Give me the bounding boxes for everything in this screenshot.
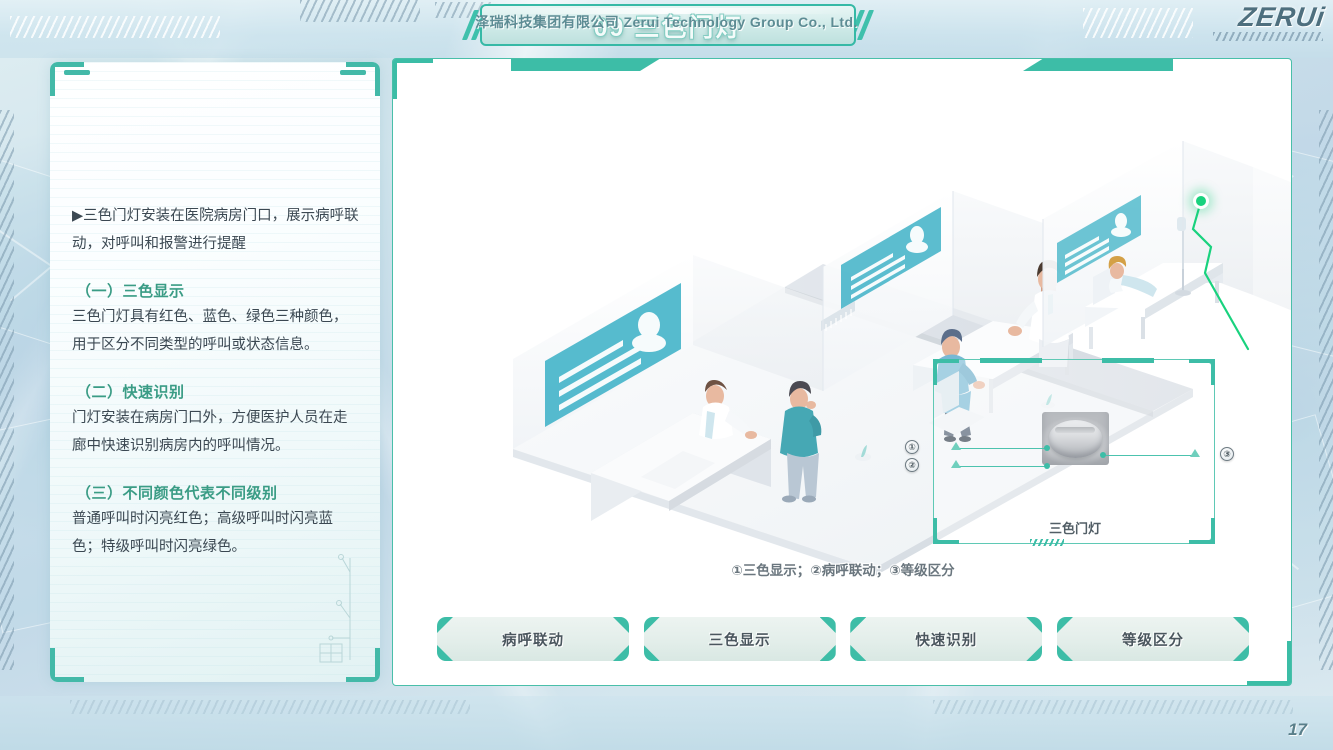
- callout-bar-top-right: [1102, 358, 1154, 363]
- lead-arrow-1: [951, 442, 961, 450]
- section-body-2: 门灯安装在病房门口外，方便医护人员在走廊中快速识别病房内的呼叫情况。: [72, 404, 360, 460]
- scene-caption: ①三色显示；②病呼联动；③等级区分: [393, 559, 1292, 579]
- button-corner-br-0: [613, 645, 629, 661]
- panel-content: ▶三色门灯安装在医院病房门口，展示病呼联动，对呼叫和报警进行提醒 （一）三色显示…: [72, 202, 360, 561]
- button-corner-tl-2: [850, 617, 866, 633]
- antenna-decoration-icon: [306, 552, 364, 664]
- callout-corner-top-left: [933, 359, 959, 385]
- feature-button-1[interactable]: 三色显示: [644, 617, 836, 661]
- callout-bar-top-left: [980, 358, 1042, 363]
- button-corner-br-2: [1026, 645, 1042, 661]
- button-corner-tr-1: [820, 617, 836, 633]
- company-name: 泽瑞科技集团有限公司 Zerui Technology Group Co., L…: [0, 12, 1333, 32]
- button-corner-tl-1: [644, 617, 660, 633]
- button-corner-tr-2: [1026, 617, 1042, 633]
- button-corner-tl-3: [1057, 617, 1073, 633]
- background-hatch-left: [0, 110, 14, 670]
- feature-button-label-0: 病呼联动: [502, 629, 564, 650]
- door-lamp-product-image: [1042, 412, 1109, 465]
- section-heading-3: （三）不同颜色代表不同级别: [72, 482, 360, 503]
- illustration-corner-bottom-right: [1247, 641, 1291, 685]
- button-corner-tr-0: [613, 617, 629, 633]
- button-corner-br-3: [1233, 645, 1249, 661]
- door-lamp-highlight-node: [1193, 193, 1209, 209]
- button-corner-bl-2: [850, 645, 866, 661]
- section-heading-2: （二）快速识别: [72, 381, 360, 402]
- logo-hatch-bar: [1213, 32, 1323, 41]
- door-lamp-slot: [1055, 427, 1095, 433]
- feature-button-label-3: 等级区分: [1122, 629, 1184, 650]
- lead-arrow-2: [951, 460, 961, 468]
- callout-marker-1: ①: [905, 440, 919, 454]
- callout-marker-2: ②: [905, 458, 919, 472]
- background-hatch-right: [1319, 110, 1333, 670]
- lead-line-2: [956, 466, 1048, 467]
- feature-button-row: 病呼联动 三色显示 快速识别 等级区分: [437, 617, 1249, 661]
- feature-button-0[interactable]: 病呼联动: [437, 617, 629, 661]
- lead-line-3: [1102, 455, 1194, 456]
- lead-dot-3: [1100, 452, 1106, 458]
- feature-button-3[interactable]: 等级区分: [1057, 617, 1249, 661]
- illustration-panel: 三色门灯 ① ② ③ ①三色显示；②病呼联动；③等级区分 病呼联动 三色显示 快…: [392, 58, 1292, 686]
- callout-corner-top-right: [1189, 359, 1215, 385]
- lead-line-1: [956, 448, 1048, 449]
- button-corner-bl-3: [1057, 645, 1073, 661]
- feature-button-2[interactable]: 快速识别: [850, 617, 1042, 661]
- lead-dot-2: [1044, 463, 1050, 469]
- feature-button-label-1: 三色显示: [709, 629, 771, 650]
- footer-band: [0, 696, 1333, 750]
- door-lamp-body: [1049, 420, 1102, 458]
- button-corner-bl-1: [644, 645, 660, 661]
- product-callout-box: 三色门灯: [933, 359, 1215, 544]
- lead-paragraph: ▶三色门灯安装在医院病房门口，展示病呼联动，对呼叫和报警进行提醒: [72, 202, 360, 258]
- lead-arrow-3: [1190, 449, 1200, 457]
- feature-button-label-2: 快速识别: [915, 629, 977, 650]
- callout-marker-3: ③: [1220, 447, 1234, 461]
- callout-label: 三色门灯: [934, 518, 1216, 537]
- panel-tab-left: [64, 70, 90, 75]
- section-body-1: 三色门灯具有红色、蓝色、绿色三种颜色，用于区分不同类型的呼叫或状态信息。: [72, 303, 360, 359]
- button-corner-tl-0: [437, 617, 453, 633]
- button-corner-br-1: [820, 645, 836, 661]
- button-corner-tr-3: [1233, 617, 1249, 633]
- page-number: 17: [1288, 720, 1307, 740]
- description-panel: ▶三色门灯安装在医院病房门口，展示病呼联动，对呼叫和报警进行提醒 （一）三色显示…: [50, 62, 380, 682]
- section-heading-1: （一）三色显示: [72, 280, 360, 301]
- panel-tab-right: [340, 70, 366, 75]
- lead-dot-1: [1044, 445, 1050, 451]
- callout-bar-bottom: [1030, 539, 1064, 546]
- button-corner-bl-0: [437, 645, 453, 661]
